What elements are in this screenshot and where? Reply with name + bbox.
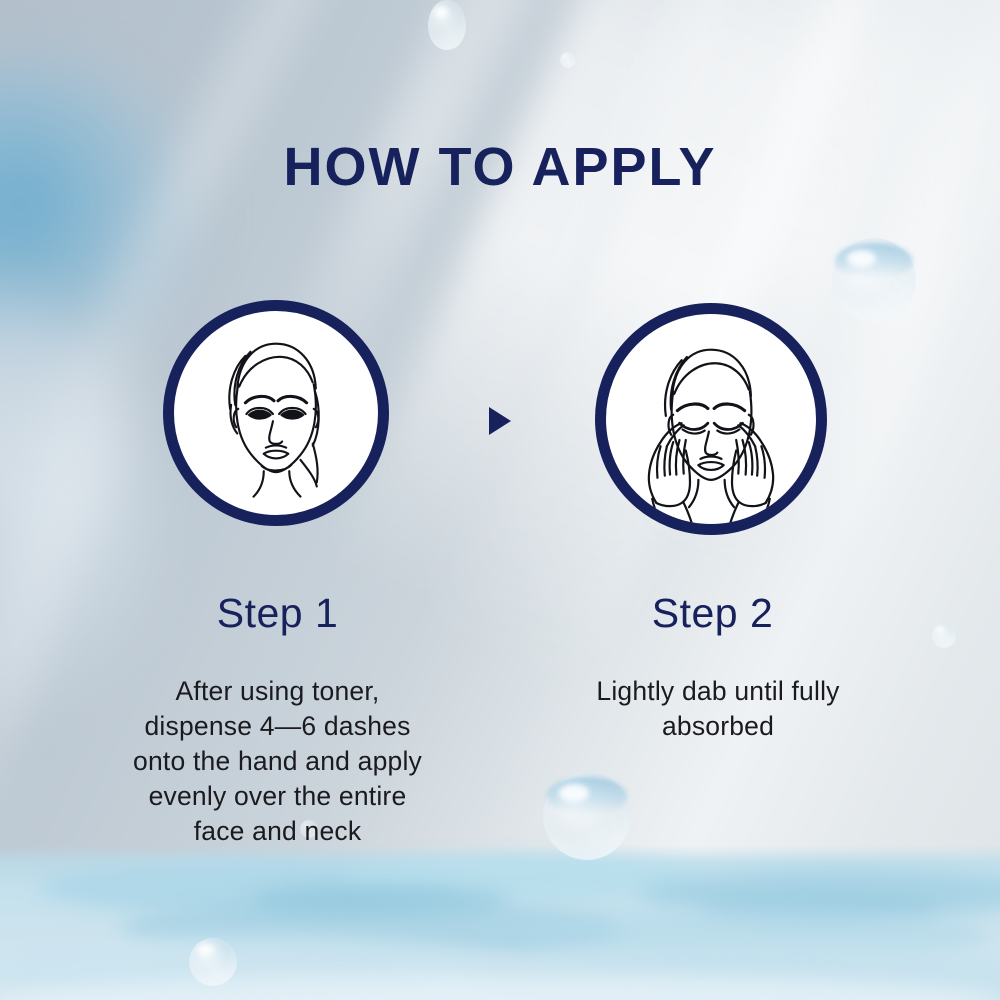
page-title: HOW TO APPLY: [0, 140, 1000, 194]
water-wave: [640, 868, 1000, 918]
step-2-illustration: [595, 303, 827, 535]
water-droplet-icon: [428, 0, 466, 50]
water-surface: [0, 845, 1000, 1000]
water-wave: [340, 856, 700, 900]
woman-face-icon: [174, 311, 378, 515]
step-1-label: Step 1: [135, 593, 420, 634]
step-1-illustration: [163, 300, 389, 526]
triangle-right-icon: [489, 407, 511, 435]
water-droplet-icon: [560, 52, 576, 68]
water-wave: [470, 944, 1000, 1000]
water-wave: [120, 900, 620, 960]
step-2-description: Lightly dab until fully absorbed: [582, 674, 854, 744]
water-bubble-icon: [832, 238, 916, 322]
water-wave: [700, 892, 940, 924]
step-1-description: After using toner, dispense 4—6 dashes o…: [120, 674, 435, 849]
how-to-apply-graphic: HOW TO APPLY: [0, 0, 1000, 1000]
water-bubble-icon: [543, 772, 631, 860]
soft-glow-left-lower: [0, 300, 150, 720]
face-patting-hands-icon: [606, 314, 816, 524]
water-wave: [250, 884, 510, 918]
step-2-label: Step 2: [570, 593, 855, 634]
water-wave: [0, 975, 1000, 1000]
water-wave: [40, 862, 460, 914]
water-wave: [520, 906, 990, 964]
blue-glow-left: [0, 60, 200, 380]
water-bubble-icon: [932, 624, 956, 648]
water-bubble-icon: [189, 938, 237, 986]
water-wave: [0, 936, 520, 1000]
